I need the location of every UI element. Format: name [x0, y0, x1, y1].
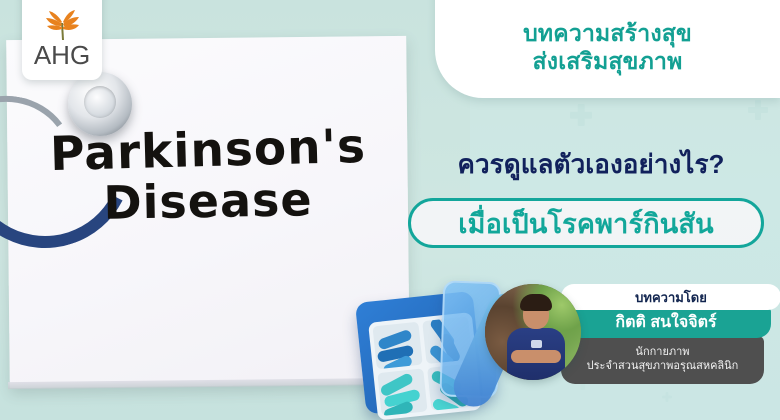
author-role: นักกายภาพ ประจำสวนสุขภาพอรุณสหคลินิก [561, 336, 764, 384]
note-line-1: Parkinson's [27, 123, 388, 178]
author-role-line-2: ประจำสวนสุขภาพอรุณสหคลินิก [587, 360, 739, 374]
top-banner-line-1: บทความสร้างสุข [523, 19, 692, 47]
author-name: กิตติ สนใจจิตร์ [615, 310, 716, 335]
author-card: นักกายภาพ ประจำสวนสุขภาพอรุณสหคลินิก กิต… [485, 284, 780, 386]
wheat-leaf-icon [39, 9, 85, 41]
ahg-logo: AHG [22, 0, 102, 80]
author-role-line-1: นักกายภาพ [635, 346, 689, 360]
cross-decoration [570, 104, 592, 126]
health-article-banner: Parkinson's Disease [0, 0, 780, 420]
avatar-arms [511, 350, 561, 363]
pillbox-cell [372, 322, 422, 370]
page-title: ควรดูแลตัวเองอย่างไร? [412, 144, 770, 185]
avatar [485, 284, 581, 380]
author-label: บทความโดย [635, 287, 707, 308]
author-label-bar: บทความโดย [561, 284, 780, 310]
topic-pill: เมื่อเป็นโรคพาร์กินสัน [408, 198, 764, 248]
cross-decoration [748, 100, 768, 120]
pillbox-cell [377, 368, 427, 416]
note-line-2: Disease [28, 176, 389, 226]
top-banner: บทความสร้างสุข ส่งเสริมสุขภาพ [435, 0, 780, 98]
top-banner-line-2: ส่งเสริมสุขภาพ [533, 47, 683, 75]
author-name-bar: กิตติ สนใจจิตร์ [561, 306, 771, 338]
cross-decoration [662, 392, 672, 402]
handwritten-note: Parkinson's Disease [28, 128, 388, 223]
topic-label: เมื่อเป็นโรคพาร์กินสัน [458, 202, 714, 245]
logo-text: AHG [34, 42, 90, 68]
avatar-shirt-logo [531, 340, 542, 348]
avatar-hair [520, 294, 552, 311]
